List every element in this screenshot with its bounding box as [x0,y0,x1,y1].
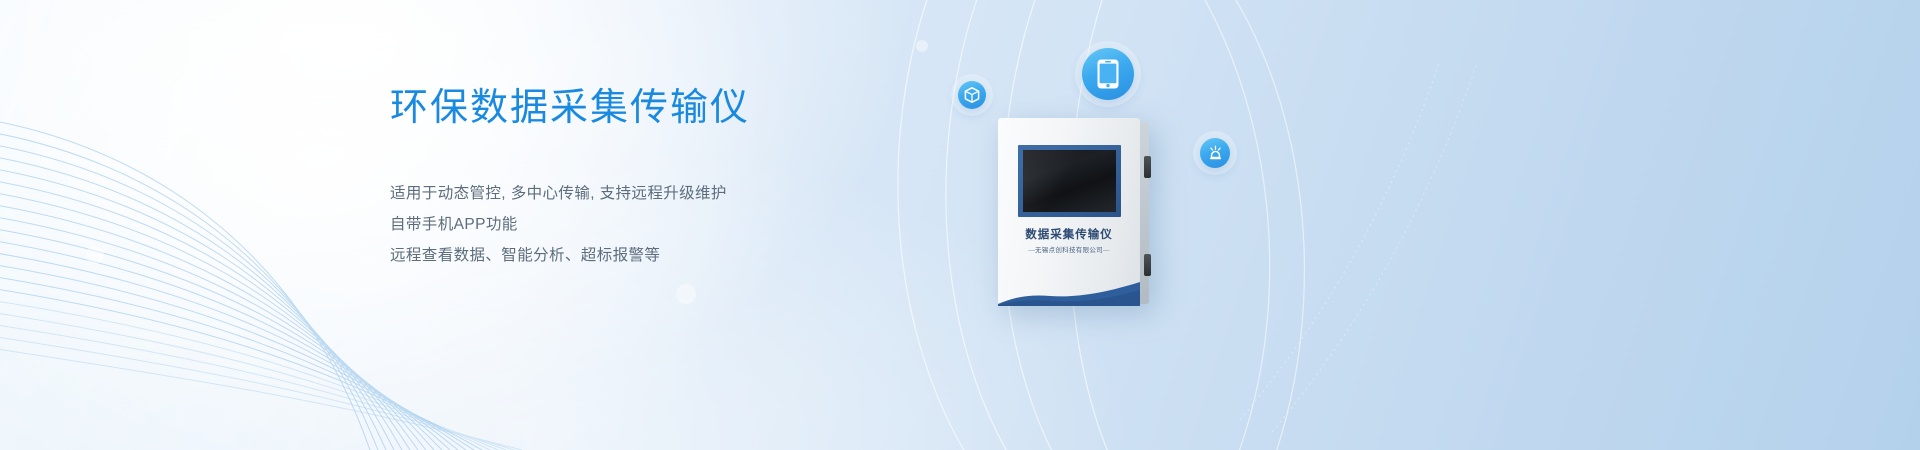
hero-banner: 环保数据采集传输仪 适用于动态管控, 多中心传输, 支持远程升级维护 自带手机A… [0,0,1920,450]
cube-box-icon [964,87,980,103]
device-latch-top [1144,156,1151,178]
hero-subtitle-list: 适用于动态管控, 多中心传输, 支持远程升级维护 自带手机APP功能 远程查看数… [390,178,910,271]
hero-subtitle-line-1: 适用于动态管控, 多中心传输, 支持远程升级维护 [390,178,910,209]
device-screen [1023,150,1116,212]
hero-copy: 环保数据采集传输仪 适用于动态管控, 多中心传输, 支持远程升级维护 自带手机A… [390,86,910,271]
device-latch-bottom [1144,254,1151,276]
badge-alarm-warning[interactable] [1200,138,1230,168]
page-title: 环保数据采集传输仪 [390,86,910,132]
decorative-orbit-arcs [880,0,1580,450]
device-label: 数据采集传输仪 [998,226,1140,242]
device-footer-graphic [998,272,1140,306]
bubble-decoration [86,246,104,264]
hero-visual: 数据采集传输仪 —无锡点创科技有限公司— [880,0,1580,450]
badge-mobile-app[interactable] [1082,48,1134,100]
badge-product-box[interactable] [958,81,986,109]
mobile-phone-icon [1097,59,1119,89]
device-side-panel [1140,122,1149,304]
device-screen-frame [1018,145,1121,217]
hero-subtitle-line-3: 远程查看数据、智能分析、超标报警等 [390,240,910,271]
alarm-siren-icon [1207,145,1224,162]
hero-subtitle-line-2: 自带手机APP功能 [390,209,910,240]
data-collector-device: 数据采集传输仪 —无锡点创科技有限公司— [998,118,1140,306]
bubble-decoration [676,284,696,304]
device-sublabel: —无锡点创科技有限公司— [998,244,1140,254]
